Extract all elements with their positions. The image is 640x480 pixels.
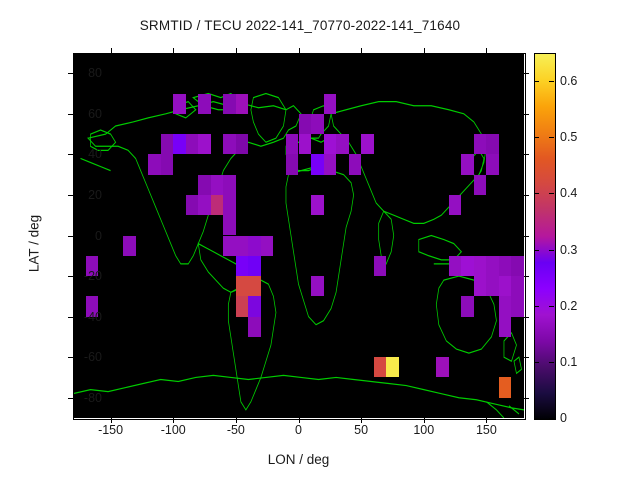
chart-title: SRMTID / TECU 2022-141_70770-2022-141_71… [0,18,600,33]
heatmap-cell [223,134,236,154]
x-tick-mark [299,48,300,53]
heatmap-cell [161,134,174,154]
heatmap-cell [511,276,524,296]
heatmap-cell [223,195,236,215]
colorbar-tick-label: 0.2 [560,299,577,313]
colorbar-tick-mark [534,250,539,251]
colorbar-tick-label: 0.5 [560,130,577,144]
y-tick-mark [524,276,529,277]
x-tick-label: 50 [331,423,391,437]
x-tick-mark [111,418,112,423]
heatmap-cell [186,134,199,154]
colorbar-tick-mark [534,193,539,194]
heatmap-cell [211,175,224,195]
x-tick-mark [361,48,362,53]
heatmap-cell [449,256,462,276]
heatmap-cell [248,296,261,316]
x-tick-mark [236,418,237,423]
heatmap-cell [449,195,462,215]
heatmap-cell [336,134,349,154]
colorbar-tick-mark [549,418,554,419]
heatmap-cell [198,175,211,195]
heatmap-cell [261,236,274,256]
y-tick-mark [524,195,529,196]
y-tick-mark [68,73,73,74]
heatmap-cell [461,256,474,276]
heatmap-cell [486,256,499,276]
heatmap-cell [248,317,261,337]
x-tick-mark [173,418,174,423]
heatmap-cell [386,357,399,377]
heatmap-cell [324,94,337,114]
colorbar-tick-mark [534,362,539,363]
colorbar-tick-mark [549,81,554,82]
y-tick-mark [524,357,529,358]
heatmap-cell [474,134,487,154]
heatmap-cell [173,94,186,114]
heatmap-cell [486,154,499,174]
y-tick-mark [68,357,73,358]
x-tick-mark [486,418,487,423]
heatmap-cell [486,134,499,154]
heatmap-cell [361,134,374,154]
heatmap-cell [248,236,261,256]
heatmap-cell [311,154,324,174]
x-tick-mark [424,418,425,423]
y-tick-mark [68,398,73,399]
heatmap-cell-layer [73,53,524,418]
heatmap-cell [236,256,249,276]
heatmap-cell [123,236,136,256]
colorbar-tick-mark [534,81,539,82]
heatmap-cell [236,236,249,256]
heatmap-cell [324,154,337,174]
heatmap-cell [198,94,211,114]
y-tick-mark [524,317,529,318]
heatmap-cell [511,256,524,276]
x-tick-label: -100 [143,423,203,437]
y-tick-mark [524,236,529,237]
heatmap-cell [223,215,236,235]
heatmap-cell [248,256,261,276]
heatmap-cell [311,114,324,134]
heatmap-cell [173,134,186,154]
x-tick-label: 0 [269,423,329,437]
x-tick-mark [424,48,425,53]
y-tick-mark [68,236,73,237]
heatmap-cell [311,276,324,296]
heatmap-cell [461,154,474,174]
heatmap-cell [286,154,299,174]
x-axis-label: LON / deg [73,452,524,467]
x-tick-mark [361,418,362,423]
colorbar-tick-mark [549,137,554,138]
heatmap-cell [499,296,512,316]
heatmap-cell [499,317,512,337]
heatmap-cell [236,134,249,154]
heatmap-cell [474,276,487,296]
heatmap-cell [349,154,362,174]
x-tick-mark [236,48,237,53]
colorbar-tick-label: 0.1 [560,355,577,369]
heatmap-cell [223,236,236,256]
heatmap-cell [486,276,499,296]
colorbar-tick-mark [534,137,539,138]
x-tick-label: -50 [206,423,266,437]
colorbar-tick-label: 0.3 [560,243,577,257]
heatmap-cell [436,357,449,377]
heatmap-cell [223,94,236,114]
colorbar-tick-mark [549,193,554,194]
heatmap-cell [223,175,236,195]
heatmap-cell [248,276,261,296]
colorbar-tick-mark [534,418,539,419]
heatmap-cell [198,195,211,215]
heatmap-cell [499,377,512,397]
map-plot-area [73,53,524,418]
heatmap-cell [161,154,174,174]
heatmap-cell [374,357,387,377]
heatmap-cell [299,114,312,134]
y-tick-mark [68,276,73,277]
x-tick-label: 150 [456,423,516,437]
heatmap-cell [148,154,161,174]
colorbar-tick-mark [549,362,554,363]
colorbar-tick-mark [549,250,554,251]
colorbar [534,53,556,420]
colorbar-tick-label: 0.6 [560,74,577,88]
heatmap-cell [511,296,524,316]
chart-root: SRMTID / TECU 2022-141_70770-2022-141_71… [0,0,640,480]
heatmap-cell [198,134,211,154]
x-tick-mark [111,48,112,53]
x-tick-mark [486,48,487,53]
heatmap-cell [499,256,512,276]
heatmap-cell [236,276,249,296]
y-tick-mark [68,317,73,318]
heatmap-cell [474,175,487,195]
x-tick-label: -150 [81,423,141,437]
heatmap-cell [374,256,387,276]
colorbar-tick-mark [534,306,539,307]
heatmap-cell [474,256,487,276]
heatmap-cell [311,195,324,215]
heatmap-cell [299,134,312,154]
y-tick-mark [524,73,529,74]
y-tick-mark [68,195,73,196]
y-tick-mark [68,114,73,115]
heatmap-cell [499,276,512,296]
y-tick-mark [68,154,73,155]
y-tick-mark [524,114,529,115]
heatmap-cell [186,195,199,215]
colorbar-tick-label: 0.4 [560,186,577,200]
x-tick-mark [299,418,300,423]
heatmap-cell [461,296,474,316]
heatmap-cell [211,195,224,215]
heatmap-cell [236,296,249,316]
y-tick-mark [524,154,529,155]
x-tick-label: 100 [394,423,454,437]
colorbar-tick-label: 0 [560,411,567,425]
x-tick-mark [173,48,174,53]
heatmap-cell [324,134,337,154]
y-tick-mark [524,398,529,399]
colorbar-tick-mark [549,306,554,307]
heatmap-cell [286,134,299,154]
y-axis-label: LAT / deg [27,184,42,304]
heatmap-cell [236,94,249,114]
